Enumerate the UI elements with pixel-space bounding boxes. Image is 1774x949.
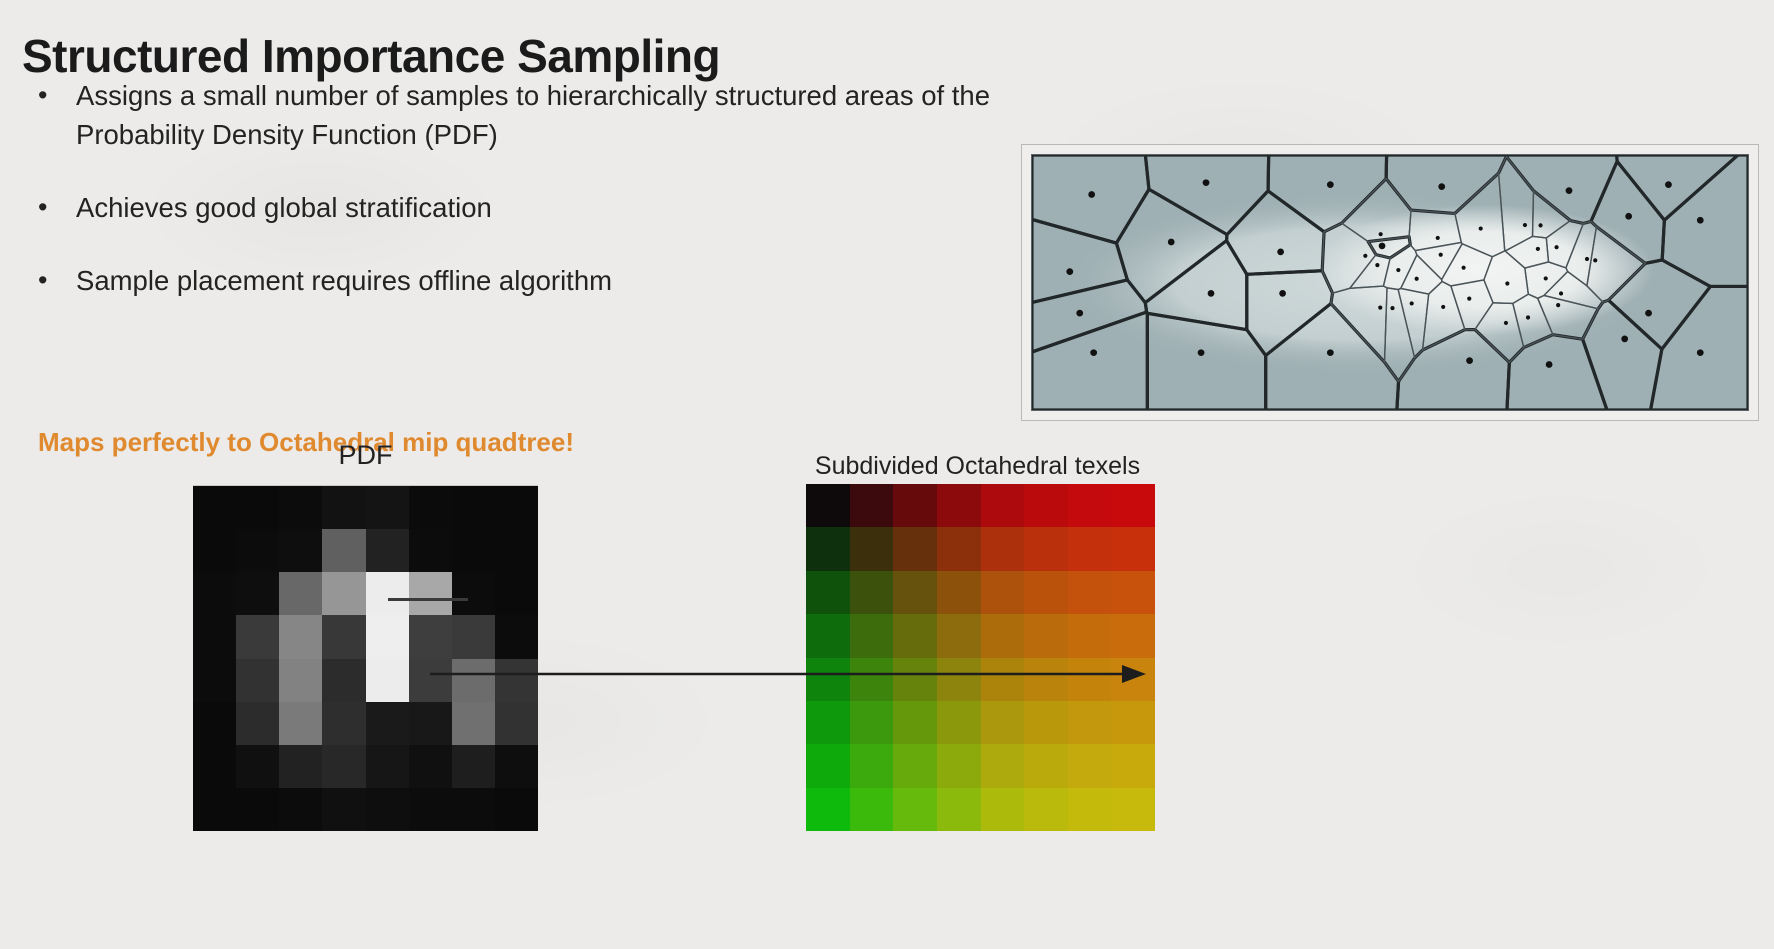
- texel-figure-label: Subdivided Octahedral texels: [800, 452, 1155, 481]
- octahedral-texel: [1068, 527, 1112, 570]
- octahedral-texel: [893, 701, 937, 744]
- pdf-texel: [322, 788, 365, 831]
- octahedral-texel: [806, 701, 850, 744]
- voronoi-sample-point: [1415, 277, 1419, 281]
- pdf-texel: [322, 529, 365, 572]
- voronoi-sample-point: [1168, 239, 1175, 246]
- octahedral-texel: [1111, 527, 1155, 570]
- pdf-texel: [409, 486, 452, 529]
- octahedral-texel: [937, 658, 981, 701]
- octahedral-texel: [981, 527, 1025, 570]
- list-item: • Assigns a small number of samples to h…: [34, 76, 1034, 154]
- page-title: Structured Importance Sampling: [22, 29, 720, 83]
- octahedral-texel: [893, 571, 937, 614]
- octahedral-texel: [893, 527, 937, 570]
- octahedral-texel: [806, 744, 850, 787]
- voronoi-sample-point: [1566, 187, 1573, 194]
- voronoi-sample-point: [1375, 263, 1379, 267]
- pdf-texel: [495, 702, 538, 745]
- voronoi-sample-point: [1441, 305, 1445, 309]
- octahedral-texel: [937, 788, 981, 831]
- pdf-texture: [193, 486, 538, 831]
- octahedral-texel: [981, 571, 1025, 614]
- voronoi-sample-point: [1505, 281, 1509, 285]
- pdf-texel: [366, 615, 409, 658]
- pdf-texel: [366, 659, 409, 702]
- voronoi-sample-point: [1076, 310, 1083, 317]
- octahedral-texel: [1024, 527, 1068, 570]
- pdf-texel: [452, 615, 495, 658]
- octahedral-texel: [1024, 658, 1068, 701]
- pdf-texel: [193, 745, 236, 788]
- octahedral-texel: [1111, 571, 1155, 614]
- pdf-texel: [452, 572, 495, 615]
- octahedral-texel: [850, 484, 894, 527]
- voronoi-sample-point: [1363, 254, 1367, 258]
- pdf-texel: [366, 745, 409, 788]
- voronoi-sample-point: [1198, 349, 1205, 356]
- voronoi-sample-point: [1467, 297, 1471, 301]
- pdf-texel: [409, 745, 452, 788]
- pdf-texel: [452, 529, 495, 572]
- octahedral-texel: [1111, 658, 1155, 701]
- pdf-texel: [409, 615, 452, 658]
- voronoi-stratification-diagram: [1031, 154, 1749, 411]
- octahedral-texel: [1111, 701, 1155, 744]
- voronoi-sample-point: [1536, 247, 1540, 251]
- pdf-texel: [366, 788, 409, 831]
- octahedral-texel: [1068, 788, 1112, 831]
- octahedral-texel: [981, 658, 1025, 701]
- octahedral-texel: [893, 484, 937, 527]
- voronoi-sample-point: [1462, 266, 1466, 270]
- bullet-icon: •: [34, 188, 76, 226]
- pdf-texel: [366, 529, 409, 572]
- pdf-texel: [495, 615, 538, 658]
- pdf-texel: [495, 572, 538, 615]
- pdf-texel: [279, 529, 322, 572]
- pdf-texel: [495, 659, 538, 702]
- voronoi-sample-point: [1327, 349, 1334, 356]
- pdf-texel: [279, 702, 322, 745]
- voronoi-sample-point: [1538, 223, 1542, 227]
- pdf-texel: [236, 615, 279, 658]
- octahedral-texel: [893, 614, 937, 657]
- octahedral-texel: [937, 571, 981, 614]
- pdf-texel: [236, 486, 279, 529]
- octahedral-texel: [1111, 614, 1155, 657]
- octahedral-texel: [850, 571, 894, 614]
- pdf-texel: [495, 486, 538, 529]
- pdf-texel: [193, 572, 236, 615]
- pdf-texel: [495, 788, 538, 831]
- pdf-texel: [452, 659, 495, 702]
- octahedral-texel: [981, 614, 1025, 657]
- pdf-texel: [495, 745, 538, 788]
- pdf-texel: [322, 615, 365, 658]
- voronoi-sample-point: [1390, 306, 1394, 310]
- pdf-texel: [366, 572, 409, 615]
- voronoi-sample-point: [1396, 268, 1400, 272]
- voronoi-sample-point: [1379, 243, 1386, 250]
- pdf-texel: [279, 486, 322, 529]
- octahedral-texel: [1111, 788, 1155, 831]
- voronoi-sample-point: [1277, 249, 1284, 256]
- octahedral-texel: [1024, 614, 1068, 657]
- slide-root: Structured Importance Sampling • Assigns…: [0, 0, 1774, 949]
- voronoi-sample-point: [1585, 257, 1589, 261]
- list-item: • Achieves good global stratification: [34, 188, 1034, 227]
- pdf-texel: [279, 615, 322, 658]
- octahedral-texel: [937, 744, 981, 787]
- voronoi-sample-point: [1621, 335, 1628, 342]
- voronoi-sample-point: [1665, 181, 1672, 188]
- octahedral-texel: [850, 658, 894, 701]
- octahedral-texel: [937, 484, 981, 527]
- pdf-texel: [409, 529, 452, 572]
- pdf-texel: [236, 572, 279, 615]
- pdf-texel: [366, 702, 409, 745]
- bullet-icon: •: [34, 261, 76, 299]
- voronoi-sample-point: [1090, 349, 1097, 356]
- voronoi-sample-point: [1327, 181, 1334, 188]
- pdf-texel: [193, 788, 236, 831]
- octahedral-texel: [806, 527, 850, 570]
- octahedral-texel: [893, 788, 937, 831]
- voronoi-sample-point: [1208, 290, 1215, 297]
- voronoi-sample-point: [1523, 223, 1527, 227]
- octahedral-texel: [850, 527, 894, 570]
- octahedral-texel: [981, 788, 1025, 831]
- voronoi-sample-point: [1279, 290, 1286, 297]
- bullet-icon: •: [34, 76, 76, 114]
- voronoi-sample-point: [1466, 357, 1473, 364]
- octahedral-texel: [1111, 744, 1155, 787]
- octahedral-texel: [850, 701, 894, 744]
- pdf-texel: [495, 529, 538, 572]
- pdf-texel: [322, 572, 365, 615]
- voronoi-sample-point: [1544, 276, 1548, 280]
- voronoi-sample-point: [1438, 183, 1445, 190]
- pdf-texel: [409, 659, 452, 702]
- octahedral-texel: [806, 788, 850, 831]
- voronoi-sample-point: [1697, 349, 1704, 356]
- octahedral-texel: [981, 484, 1025, 527]
- octahedral-texel: [1024, 571, 1068, 614]
- voronoi-sample-point: [1410, 301, 1414, 305]
- voronoi-sample-point: [1436, 236, 1440, 240]
- voronoi-sample-point: [1559, 291, 1563, 295]
- list-item-label: Sample placement requires offline algori…: [76, 261, 1034, 300]
- voronoi-panel: [1021, 144, 1759, 421]
- pdf-texel: [193, 702, 236, 745]
- pdf-texel: [236, 745, 279, 788]
- octahedral-texel: [806, 484, 850, 527]
- list-item-label: Achieves good global stratification: [76, 188, 1034, 227]
- voronoi-sample-point: [1066, 268, 1073, 275]
- voronoi-sample-point: [1379, 232, 1383, 236]
- octahedral-texel: [806, 658, 850, 701]
- pdf-texel: [322, 702, 365, 745]
- octahedral-texel: [1068, 658, 1112, 701]
- octahedral-texel: [1068, 571, 1112, 614]
- voronoi-sample-point: [1546, 361, 1553, 368]
- pdf-texel: [409, 788, 452, 831]
- pdf-texel: [409, 702, 452, 745]
- pdf-texel: [279, 745, 322, 788]
- pdf-texel: [452, 486, 495, 529]
- pdf-texel: [366, 486, 409, 529]
- pdf-texel: [193, 486, 236, 529]
- voronoi-sample-point: [1088, 191, 1095, 198]
- list-item-label: Assigns a small number of samples to hie…: [76, 76, 1034, 154]
- octahedral-texel: [1024, 788, 1068, 831]
- pdf-texel: [236, 659, 279, 702]
- octahedral-texel: [806, 614, 850, 657]
- octahedral-texel: [1068, 614, 1112, 657]
- voronoi-sample-point: [1645, 310, 1652, 317]
- pdf-texel: [452, 745, 495, 788]
- octahedral-texel: [850, 614, 894, 657]
- octahedral-texel: [1024, 744, 1068, 787]
- octahedral-texel: [893, 744, 937, 787]
- pdf-texel: [193, 659, 236, 702]
- voronoi-sample-point: [1479, 226, 1483, 230]
- octahedral-texel: [937, 614, 981, 657]
- voronoi-svg: [1032, 155, 1748, 410]
- pdf-texel: [193, 615, 236, 658]
- octahedral-texel: [1024, 701, 1068, 744]
- voronoi-sample-point: [1554, 245, 1558, 249]
- voronoi-sample-point: [1593, 258, 1597, 262]
- voronoi-sample-point: [1439, 253, 1443, 257]
- octahedral-texel: [937, 527, 981, 570]
- octahedral-texel: [850, 788, 894, 831]
- octahedral-texel: [850, 744, 894, 787]
- pdf-texel: [279, 572, 322, 615]
- octahedral-texel: [1111, 484, 1155, 527]
- voronoi-sample-point: [1203, 179, 1210, 186]
- pdf-texel: [322, 745, 365, 788]
- pdf-texel: [193, 529, 236, 572]
- octahedral-texel: [1068, 701, 1112, 744]
- octahedral-texel: [981, 744, 1025, 787]
- list-item: • Sample placement requires offline algo…: [34, 261, 1034, 300]
- octahedral-texel: [1068, 484, 1112, 527]
- voronoi-sample-point: [1556, 303, 1560, 307]
- octahedral-texel: [1068, 744, 1112, 787]
- pdf-texel: [236, 529, 279, 572]
- pdf-texel: [452, 788, 495, 831]
- pdf-texel: [452, 702, 495, 745]
- octahedral-texel: [806, 571, 850, 614]
- voronoi-sample-point: [1504, 321, 1508, 325]
- voronoi-sample-point: [1526, 315, 1530, 319]
- pdf-texel: [322, 486, 365, 529]
- voronoi-sample-point: [1378, 306, 1382, 310]
- bullet-list: • Assigns a small number of samples to h…: [34, 76, 1034, 334]
- octahedral-texel: [893, 658, 937, 701]
- pdf-texel: [322, 659, 365, 702]
- pdf-texel: [236, 788, 279, 831]
- pdf-connector-tick: [388, 598, 468, 601]
- octahedral-texel-grid: [806, 484, 1155, 831]
- pdf-texel: [279, 659, 322, 702]
- pdf-texel: [409, 572, 452, 615]
- pdf-figure-label: PDF: [193, 440, 538, 471]
- pdf-texel: [279, 788, 322, 831]
- octahedral-texel: [981, 701, 1025, 744]
- voronoi-sample-point: [1697, 217, 1704, 224]
- pdf-texel: [236, 702, 279, 745]
- octahedral-texel: [937, 701, 981, 744]
- octahedral-texel: [1024, 484, 1068, 527]
- voronoi-sample-point: [1625, 213, 1632, 220]
